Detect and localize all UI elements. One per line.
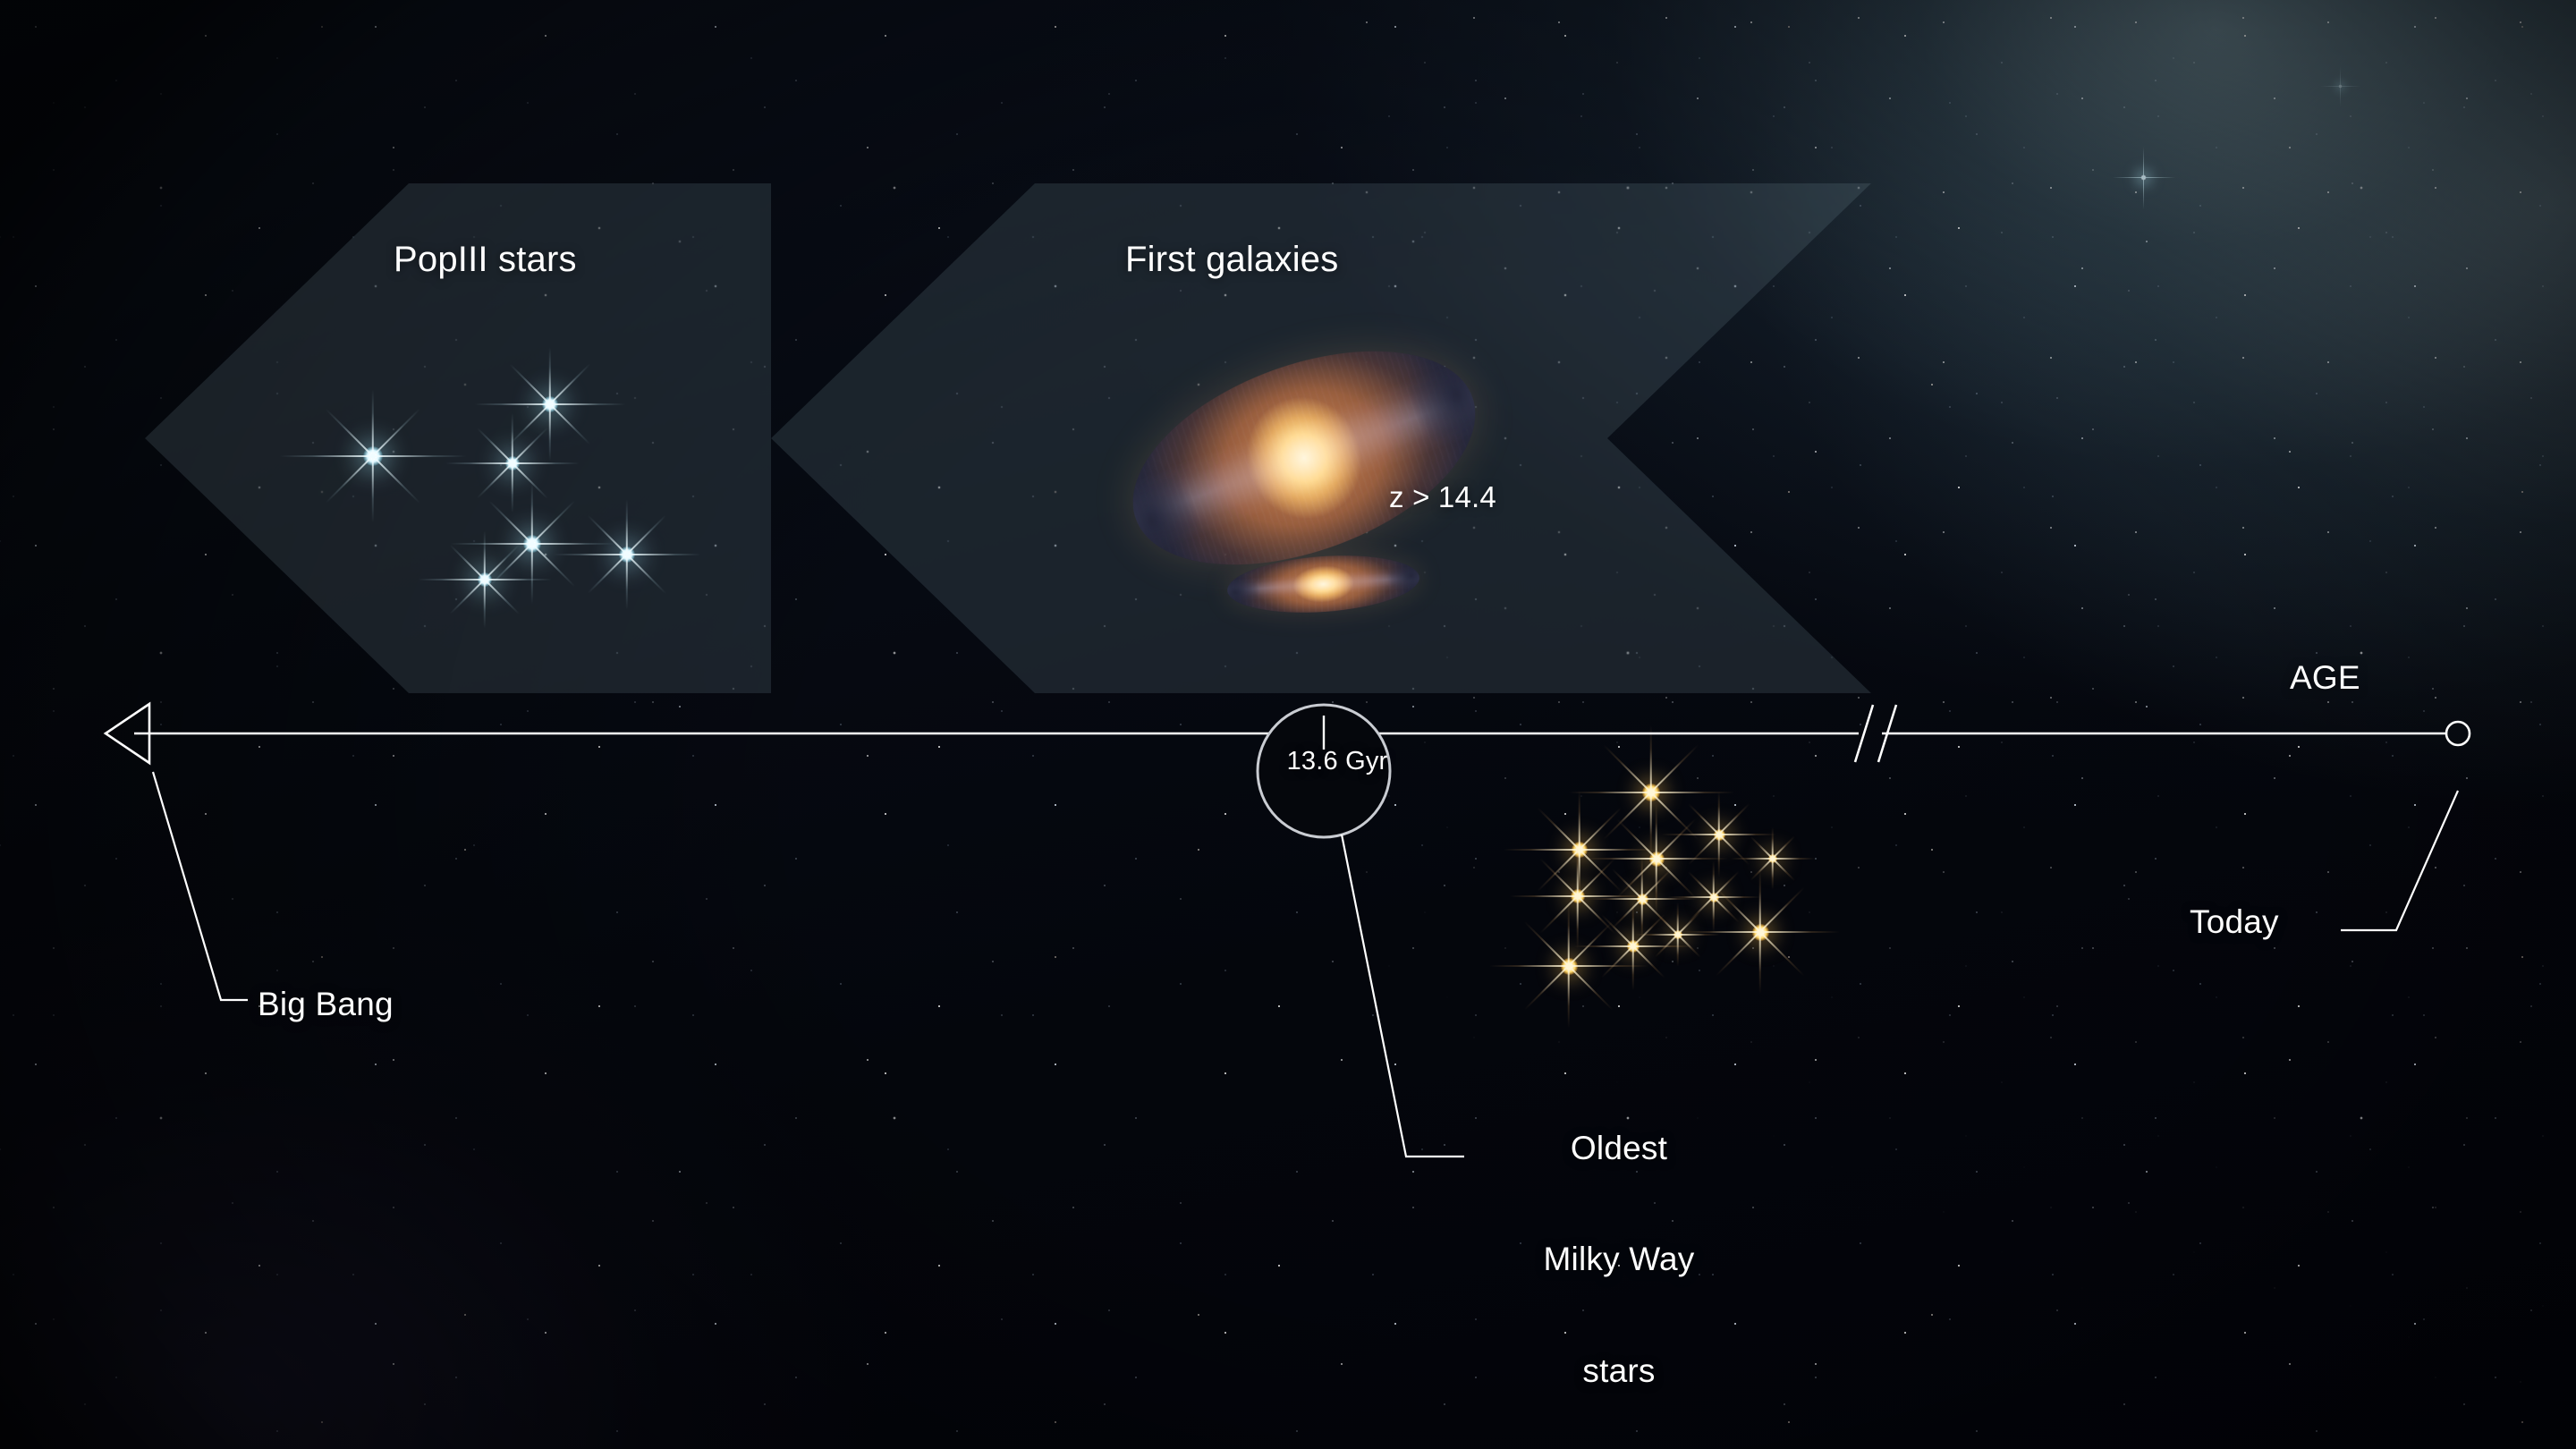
axis-title: AGE: [2290, 659, 2360, 697]
cosmic-timeline-figure: PopIII stars First galaxies: [0, 0, 2576, 1449]
phase-label-first-galaxies: First galaxies: [1125, 240, 1338, 280]
oldest-stars-line-2: Milky Way: [1458, 1241, 1780, 1277]
today-label: Today: [2190, 903, 2279, 941]
oldest-stars-callout: Oldest Milky Way stars: [1458, 1055, 1780, 1449]
oldest-stars-line-3: stars: [1458, 1352, 1780, 1389]
phase-label-popiii: PopIII stars: [394, 240, 577, 280]
redshift-annotation: z > 14.4: [1389, 480, 1496, 514]
big-bang-label: Big Bang: [258, 986, 394, 1023]
age-marker-value: 13.6 Gyr: [1257, 747, 1418, 776]
oldest-stars-line-1: Oldest: [1458, 1130, 1780, 1166]
